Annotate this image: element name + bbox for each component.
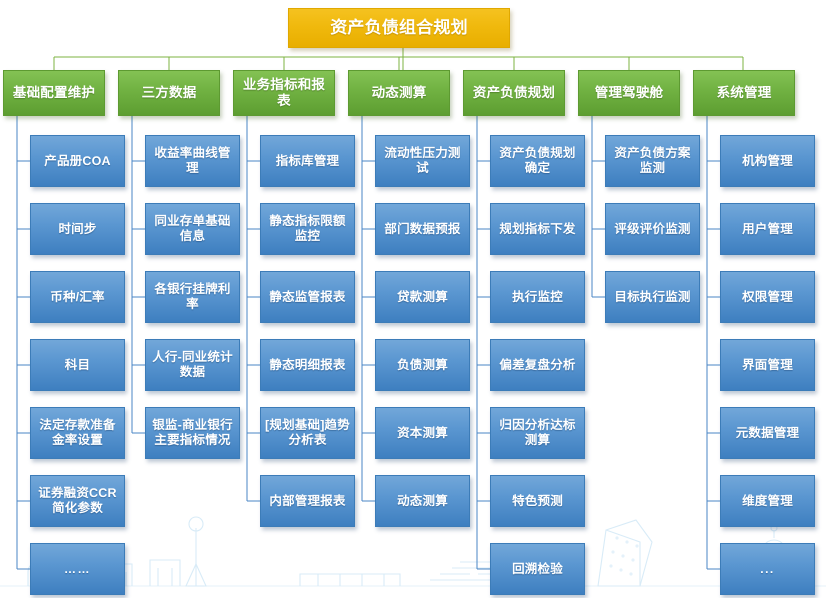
leaf-node-label: 科目	[65, 358, 90, 373]
leaf-node-label: 收益率曲线管理	[150, 146, 235, 176]
leaf-node-label: 部门数据预报	[384, 222, 460, 237]
leaf-node-label: 负债测算	[397, 358, 448, 373]
root-label: 资产负债组合规划	[330, 18, 468, 38]
leaf-node-5-7[interactable]: 回溯检验	[490, 543, 585, 595]
leaf-node-7-5[interactable]: 元数据管理	[720, 407, 815, 459]
branch-header-2[interactable]: 三方数据	[118, 70, 220, 116]
leaf-node-7-6[interactable]: 维度管理	[720, 475, 815, 527]
leaf-node-7-1[interactable]: 机构管理	[720, 135, 815, 187]
leaf-node-label: ……	[64, 562, 91, 576]
leaf-node-label: 贷款测算	[397, 290, 448, 305]
leaf-node-4-4[interactable]: 负债测算	[375, 339, 470, 391]
leaf-node-3-5[interactable]: [规划基础]趋势分析表	[260, 407, 355, 459]
leaf-node-3-2[interactable]: 静态指标限额监控	[260, 203, 355, 255]
leaf-node-6-2[interactable]: 评级评价监测	[605, 203, 700, 255]
leaf-node-5-5[interactable]: 归因分析达标测算	[490, 407, 585, 459]
leaf-node-label: 同业存单基础信息	[150, 214, 235, 244]
branch-header-label: 资产负债规划	[473, 85, 555, 101]
leaf-node-label: 指标库管理	[276, 154, 340, 169]
leaf-node-label: [规划基础]趋势分析表	[265, 418, 350, 448]
leaf-node-4-5[interactable]: 资本测算	[375, 407, 470, 459]
branch-header-label: 基础配置维护	[13, 85, 95, 101]
branch-header-label: 三方数据	[142, 85, 197, 101]
leaf-node-2-4[interactable]: 人行-同业统计数据	[145, 339, 240, 391]
leaf-node-label: 内部管理报表	[269, 494, 345, 509]
diagram-canvas: 资产负债组合规划 基础配置维护产品册COA时间步币种/汇率科目法定存款准备金率设…	[0, 0, 826, 598]
leaf-node-1-4[interactable]: 科目	[30, 339, 125, 391]
leaf-node-label: 元数据管理	[736, 426, 800, 441]
leaf-node-5-4[interactable]: 偏差复盘分析	[490, 339, 585, 391]
leaf-node-label: 人行-同业统计数据	[150, 350, 235, 380]
leaf-node-label: 流动性压力测试	[380, 146, 465, 176]
leaf-node-2-5[interactable]: 银监-商业银行主要指标情况	[145, 407, 240, 459]
leaf-node-5-1[interactable]: 资产负债规划确定	[490, 135, 585, 187]
leaf-node-label: 机构管理	[742, 154, 793, 169]
leaf-node-label: 各银行挂牌利率	[150, 282, 235, 312]
leaf-node-label: 目标执行监测	[614, 290, 690, 305]
leaf-node-1-6[interactable]: 证券融资CCR简化参数	[30, 475, 125, 527]
leaf-node-2-2[interactable]: 同业存单基础信息	[145, 203, 240, 255]
leaf-node-label: 归因分析达标测算	[495, 418, 580, 448]
branch-header-3[interactable]: 业务指标和报表	[233, 70, 335, 116]
leaf-node-6-1[interactable]: 资产负债方案监测	[605, 135, 700, 187]
leaf-node-5-2[interactable]: 规划指标下发	[490, 203, 585, 255]
leaf-node-label: 用户管理	[742, 222, 793, 237]
leaf-node-3-3[interactable]: 静态监管报表	[260, 271, 355, 323]
branch-header-label: 管理驾驶舱	[595, 85, 664, 101]
leaf-node-2-3[interactable]: 各银行挂牌利率	[145, 271, 240, 323]
leaf-node-label: 执行监控	[512, 290, 563, 305]
leaf-node-1-3[interactable]: 币种/汇率	[30, 271, 125, 323]
leaf-node-1-1[interactable]: 产品册COA	[30, 135, 125, 187]
leaf-node-1-2[interactable]: 时间步	[30, 203, 125, 255]
leaf-node-5-6[interactable]: 特色预测	[490, 475, 585, 527]
branch-header-label: 业务指标和报表	[238, 77, 330, 109]
branch-header-7[interactable]: 系统管理	[693, 70, 795, 116]
root-node[interactable]: 资产负债组合规划	[288, 8, 510, 48]
leaf-node-label: 偏差复盘分析	[499, 358, 575, 373]
branch-header-4[interactable]: 动态测算	[348, 70, 450, 116]
leaf-node-label: 法定存款准备金率设置	[35, 418, 120, 448]
leaf-node-4-3[interactable]: 贷款测算	[375, 271, 470, 323]
leaf-node-label: 权限管理	[742, 290, 793, 305]
branch-header-label: 系统管理	[717, 85, 772, 101]
leaf-node-1-7[interactable]: ……	[30, 543, 125, 595]
leaf-node-label: 静态监管报表	[269, 290, 345, 305]
branch-header-6[interactable]: 管理驾驶舱	[578, 70, 680, 116]
leaf-node-label: 规划指标下发	[499, 222, 575, 237]
leaf-node-5-3[interactable]: 执行监控	[490, 271, 585, 323]
leaf-node-label: 银监-商业银行主要指标情况	[150, 418, 235, 448]
leaf-node-6-3[interactable]: 目标执行监测	[605, 271, 700, 323]
leaf-node-label: 动态测算	[397, 494, 448, 509]
leaf-node-label: 特色预测	[512, 494, 563, 509]
leaf-node-4-2[interactable]: 部门数据预报	[375, 203, 470, 255]
leaf-node-label: 资产负债方案监测	[610, 146, 695, 176]
leaf-node-label: ...	[760, 562, 775, 576]
leaf-node-4-1[interactable]: 流动性压力测试	[375, 135, 470, 187]
leaf-node-label: 时间步	[58, 222, 96, 237]
leaf-node-label: 静态明细报表	[269, 358, 345, 373]
leaf-node-label: 证券融资CCR简化参数	[35, 486, 120, 516]
leaf-node-7-2[interactable]: 用户管理	[720, 203, 815, 255]
leaf-node-label: 产品册COA	[44, 154, 110, 169]
leaf-node-3-6[interactable]: 内部管理报表	[260, 475, 355, 527]
leaf-node-4-6[interactable]: 动态测算	[375, 475, 470, 527]
leaf-node-3-4[interactable]: 静态明细报表	[260, 339, 355, 391]
leaf-node-label: 静态指标限额监控	[265, 214, 350, 244]
leaf-node-7-4[interactable]: 界面管理	[720, 339, 815, 391]
leaf-node-label: 回溯检验	[512, 562, 563, 577]
leaf-node-label: 维度管理	[742, 494, 793, 509]
leaf-node-label: 界面管理	[742, 358, 793, 373]
leaf-node-2-1[interactable]: 收益率曲线管理	[145, 135, 240, 187]
leaf-node-3-1[interactable]: 指标库管理	[260, 135, 355, 187]
branch-header-5[interactable]: 资产负债规划	[463, 70, 565, 116]
leaf-node-7-7[interactable]: ...	[720, 543, 815, 595]
branch-header-1[interactable]: 基础配置维护	[3, 70, 105, 116]
leaf-node-label: 资本测算	[397, 426, 448, 441]
leaf-node-label: 资产负债规划确定	[495, 146, 580, 176]
leaf-node-label: 评级评价监测	[614, 222, 690, 237]
branch-header-label: 动态测算	[372, 85, 427, 101]
leaf-node-7-3[interactable]: 权限管理	[720, 271, 815, 323]
leaf-node-label: 币种/汇率	[50, 290, 104, 305]
leaf-node-1-5[interactable]: 法定存款准备金率设置	[30, 407, 125, 459]
